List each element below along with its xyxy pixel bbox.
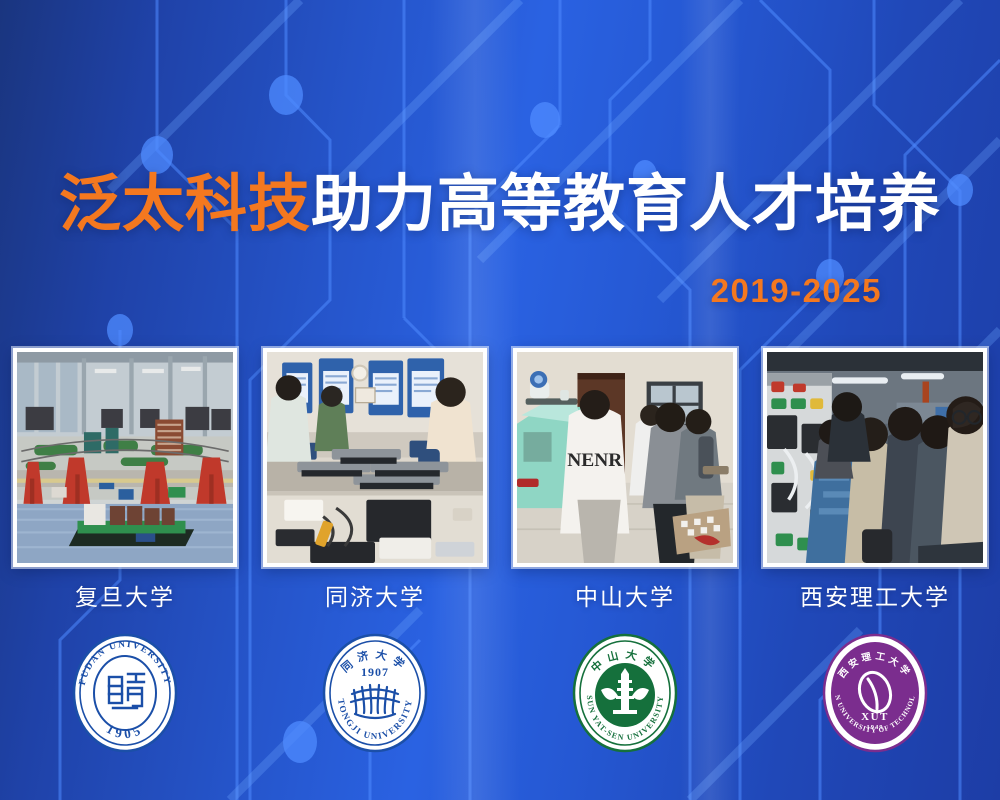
fudan-university-logo: FUDAN UNIVERSITY 1905 [71,632,179,754]
caption-fudan: 复旦大学 [13,578,237,612]
svg-text:1949: 1949 [867,724,884,731]
xut-students-demonstration-photo [767,352,983,563]
poster-canvas: 泛太科技助力高等教育人才培养 2019-2025 [0,0,1000,800]
page-title: 泛太科技助力高等教育人才培养 [0,168,1000,241]
logo-slot-xut: 西安理工大学 XI'AN UNIVERSITY OF TECHNOLOGY XU… [763,632,987,754]
caption-xut: 西安理工大学 [763,578,987,612]
caption-sysu: 中山大学 [513,578,737,612]
logo-slot-sysu: 中山大学 SUN YAT-SEN UNIVERSITY [513,632,737,754]
caption-tongji: 同济大学 [263,578,487,612]
tongji-university-logo: 同济大学 TONGJI UNIVERSITY 1907 [321,632,429,754]
photo-gallery: NENR [0,348,1000,570]
svg-text:XUT: XUT [861,711,889,723]
photo-card-fudan [13,348,237,567]
title-brand: 泛太科技 [59,170,311,239]
sun-yat-sen-university-logo: 中山大学 SUN YAT-SEN UNIVERSITY [571,632,679,754]
title-tagline: 助力高等教育人才培养 [311,170,941,239]
logo-slot-fudan: FUDAN UNIVERSITY 1905 [13,632,237,754]
svg-text:1907: 1907 [361,665,389,679]
subtitle-year-range: 2019-2025 [711,272,882,310]
photo-card-xut [763,348,987,567]
fudan-lab-scale-model-photo [17,352,233,563]
tongji-lab-equipment-photo [267,352,483,563]
xian-university-of-technology-logo: 西安理工大学 XI'AN UNIVERSITY OF TECHNOLOGY XU… [821,632,929,754]
sysu-autonomous-vehicle-photo: NENR [517,352,733,563]
photo-card-sysu: NENR [513,348,737,567]
photo-card-tongji [263,348,487,567]
logo-slot-tongji: 同济大学 TONGJI UNIVERSITY 1907 [263,632,487,754]
svg-text:NENR: NENR [567,450,623,471]
university-logos: FUDAN UNIVERSITY 1905 [0,632,1000,754]
university-captions: 复旦大学 同济大学 中山大学 西安理工大学 [0,578,1000,612]
title-block: 泛太科技助力高等教育人才培养 [0,168,1000,241]
